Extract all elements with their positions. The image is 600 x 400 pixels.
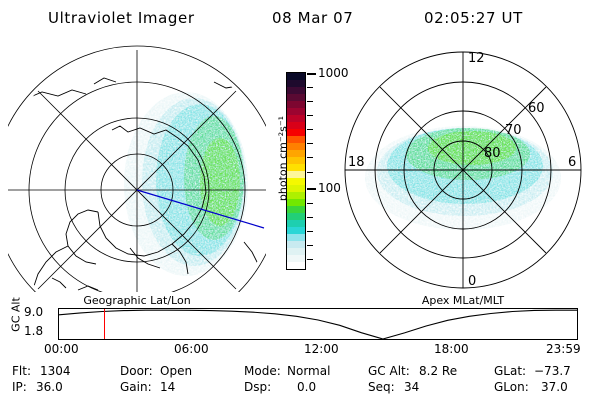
colorbar-minor-tick [307, 245, 313, 246]
timeline-ytick-low: 1.8 [24, 324, 43, 338]
timeline-y-axis-label: GC Alt [10, 285, 23, 345]
colorbar-tick-1000 [307, 73, 316, 75]
colorbar-minor-tick [307, 172, 313, 173]
apex-graticule [345, 52, 581, 288]
timeline-current-marker [104, 309, 106, 339]
status-gain-value: 14 [160, 380, 175, 394]
colorbar-minor-tick [307, 143, 313, 144]
colorbar-minor-tick [307, 87, 313, 88]
geographic-plot-svg [8, 42, 266, 292]
status-gcalt-value: 8.2 Re [419, 364, 457, 378]
status-ip-label: IP: [12, 380, 27, 394]
timeline-plot-frame[interactable] [58, 308, 578, 340]
colorbar-gradient [286, 72, 306, 270]
status-bar: Flt: 1304 Door: Open Mode: Normal GC Alt… [0, 364, 600, 398]
status-dsp-value: 0.0 [297, 380, 316, 394]
colorbar-legend: photon cm⁻²s⁻¹ 1000 100 [268, 60, 334, 300]
timeline-xtick-4: 23:59 [546, 342, 581, 356]
timeline-x-axis: 00:00 06:00 12:00 18:00 23:59 [58, 342, 578, 356]
colorbar-minor-tick [307, 231, 313, 232]
status-gcalt-label: GC Alt: [368, 364, 410, 378]
timeline-xtick-3: 18:00 [434, 342, 469, 356]
timeline-xtick-0: 00:00 [44, 342, 79, 356]
status-seq-value: 34 [404, 380, 419, 394]
status-mode-value: Normal [287, 364, 330, 378]
mlat-label-70: 70 [505, 123, 522, 138]
altitude-curve [59, 310, 577, 339]
apex-plot-svg: 12 6 0 18 60 70 80 [332, 42, 594, 292]
mlat-label-60: 60 [528, 101, 545, 116]
status-ip-value: 36.0 [36, 380, 63, 394]
mlat-label-80: 80 [484, 146, 501, 161]
mlt-label-0: 0 [468, 274, 476, 289]
status-gain-label: Gain: [120, 380, 152, 394]
colorbar-tick-100 [307, 188, 316, 190]
status-dsp-label: Dsp: [244, 380, 271, 394]
status-flt-label: Flt: [12, 364, 31, 378]
colorbar-minor-tick [307, 203, 313, 204]
timeline-xtick-2: 12:00 [304, 342, 339, 356]
colorbar-minor-tick [307, 101, 313, 102]
status-flt-value: 1304 [40, 364, 71, 378]
status-glat-value: −73.7 [534, 364, 571, 378]
altitude-timeline[interactable]: GC Alt 9.0 1.8 00:00 06:00 12:00 18:00 2… [0, 300, 600, 358]
status-glon-value: 37.0 [541, 380, 568, 394]
header-bar: Ultraviolet Imager 08 Mar 07 02:05:27 UT [0, 6, 600, 32]
colorbar-minor-tick [307, 157, 313, 158]
timeline-xtick-1: 06:00 [174, 342, 209, 356]
status-glon-label: GLon: [494, 380, 529, 394]
status-mode-label: Mode: [244, 364, 281, 378]
observation-date: 08 Mar 07 [272, 9, 353, 27]
page-title: Ultraviolet Imager [48, 9, 195, 27]
mlt-label-6: 6 [568, 155, 576, 170]
status-door-value: Open [160, 364, 192, 378]
colorbar-minor-tick [307, 115, 313, 116]
mlt-label-18: 18 [348, 155, 365, 170]
timeline-ytick-high: 9.0 [24, 305, 43, 319]
observation-time: 02:05:27 UT [424, 9, 523, 27]
colorbar-minor-tick [307, 259, 313, 260]
status-door-label: Door: [120, 364, 153, 378]
apex-plot[interactable]: 12 6 0 18 60 70 80 [332, 42, 594, 292]
status-glat-label: GLat: [494, 364, 526, 378]
timeline-curve-svg [59, 309, 577, 339]
status-seq-label: Seq: [368, 380, 395, 394]
geographic-plot[interactable] [8, 42, 266, 292]
colorbar-minor-tick [307, 217, 313, 218]
mlt-label-12: 12 [468, 51, 485, 66]
colorbar-minor-tick [307, 129, 313, 130]
